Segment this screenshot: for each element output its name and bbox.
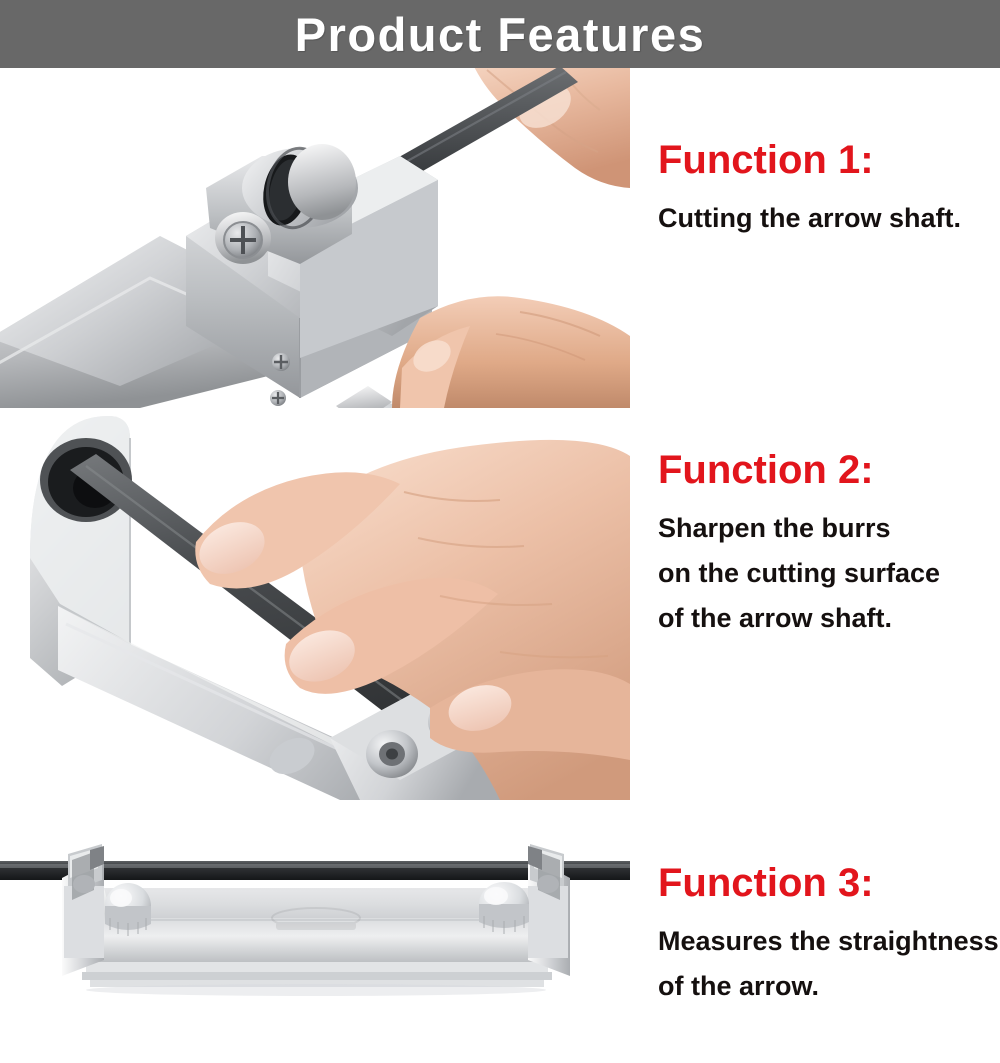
arrow-shaft-deburring-photo [0, 408, 630, 800]
feature-2-line-2: on the cutting surface [658, 551, 988, 596]
left-roller-clamp [62, 844, 104, 976]
feature-2-line-1: Sharpen the burrs [658, 506, 988, 551]
feature-2-text: Function 2: Sharpen the burrs on the cut… [658, 408, 988, 842]
feature-3-heading: Function 3: [658, 863, 988, 903]
content-area: Function 1: Cutting the arrow shaft. [0, 68, 1000, 1000]
arrow-straightness-checker-photo [0, 800, 630, 1000]
feature-1-body: Cutting the arrow shaft. [658, 196, 988, 241]
arrow-shaft-cutter-photo [0, 68, 630, 408]
header-banner: Product Features [0, 0, 1000, 68]
feature-1-line-1: Cutting the arrow shaft. [658, 196, 988, 241]
feature-2-line-3: of the arrow shaft. [658, 596, 988, 641]
feature-row-2: Function 2: Sharpen the burrs on the cut… [0, 408, 1000, 800]
feature-2-body: Sharpen the burrs on the cutting surface… [658, 506, 988, 641]
feature-3-line-2: of the arrow. [658, 964, 988, 1009]
right-roller-clamp [528, 844, 570, 976]
feature-row-3: Function 3: Measures the straightness of… [0, 800, 1000, 1000]
pivot-screw [215, 212, 271, 264]
feature-3-line-1: Measures the straightness [658, 919, 988, 964]
feature-3-body: Measures the straightness of the arrow. [658, 919, 988, 1009]
page-title: Product Features [295, 11, 706, 58]
feature-row-1: Function 1: Cutting the arrow shaft. [0, 68, 1000, 408]
feature-3-text: Function 3: Measures the straightness of… [658, 800, 988, 1063]
feature-2-heading: Function 2: [658, 450, 988, 490]
feature-1-heading: Function 1: [658, 140, 988, 180]
